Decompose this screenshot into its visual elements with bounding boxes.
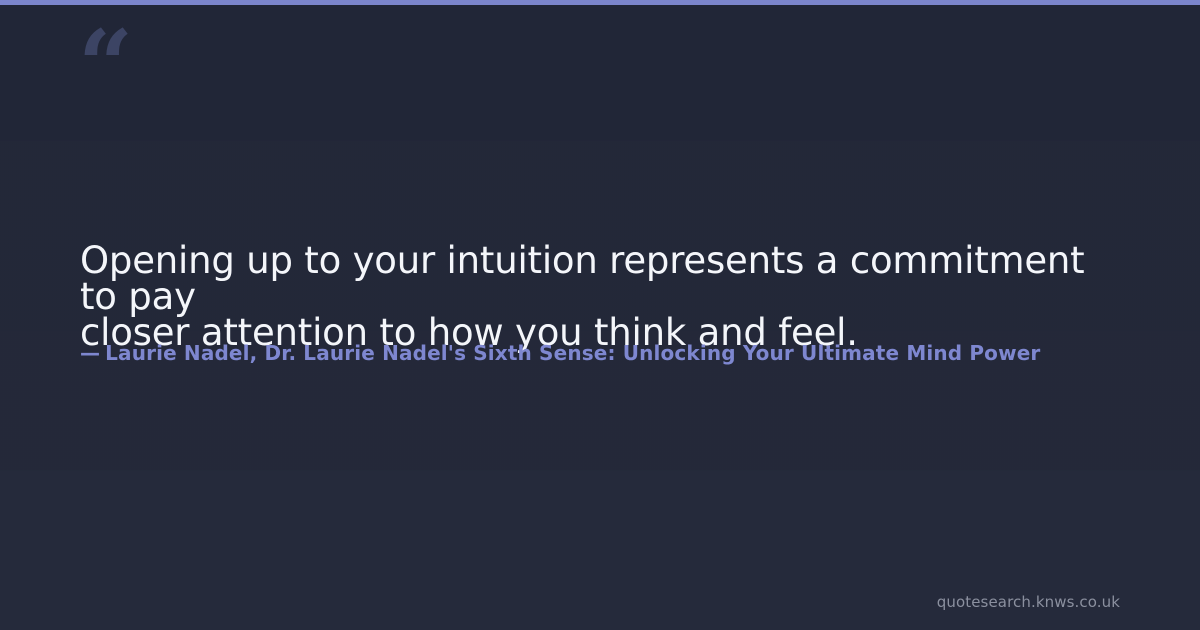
attribution-author: Laurie Nadel [105,341,250,365]
attribution-separator: , [250,341,265,365]
site-url-label: quotesearch.knws.co.uk [937,592,1120,612]
attribution-source: Dr. Laurie Nadel's Sixth Sense: Unlockin… [265,341,1041,365]
quote-text: Opening up to your intuition represents … [80,243,1090,351]
quote-line-1: Opening up to your intuition represents … [80,239,1084,318]
quote-card: “ Opening up to your intuition represent… [0,0,1200,630]
quote-attribution: —Laurie Nadel, Dr. Laurie Nadel's Sixth … [80,340,1200,366]
attribution-dash: — [80,341,100,365]
top-accent-bar [0,0,1200,5]
open-quote-icon: “ [78,18,131,114]
